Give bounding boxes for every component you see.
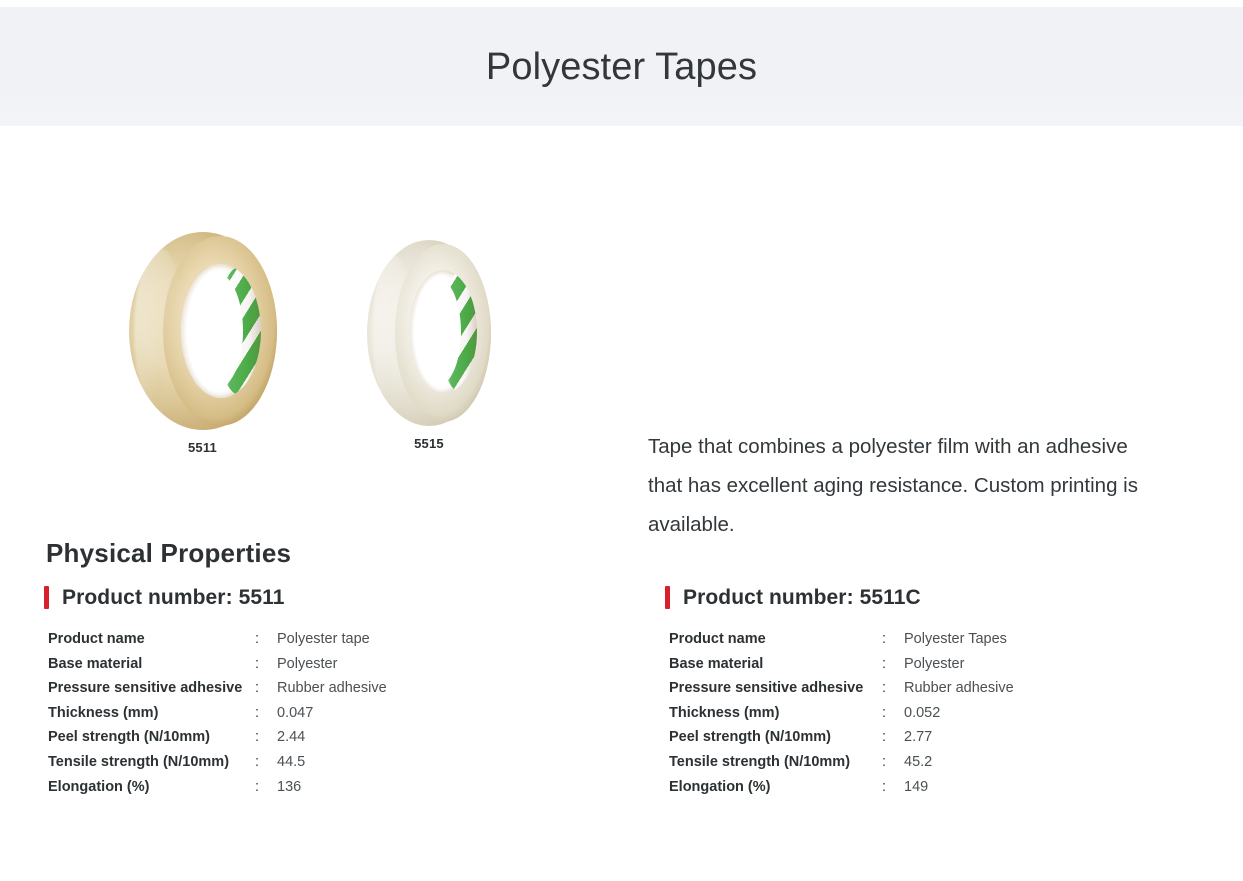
spec-value: 44.5 bbox=[277, 750, 387, 775]
tape-core-hole bbox=[414, 278, 461, 386]
accent-bar-icon bbox=[44, 586, 49, 609]
spec-separator: : bbox=[882, 750, 904, 775]
table-row: Pressure sensitive adhesive : Rubber adh… bbox=[669, 676, 1014, 701]
tape-gloss-highlight bbox=[134, 248, 184, 414]
spec-value: Polyester Tapes bbox=[904, 627, 1014, 652]
spec-separator: : bbox=[882, 676, 904, 701]
spec-label: Peel strength (N/10mm) bbox=[669, 725, 882, 750]
spec-label: Product name bbox=[48, 627, 255, 652]
product-figure-5511: 5511 bbox=[120, 232, 285, 455]
table-row: Thickness (mm) : 0.047 bbox=[48, 701, 387, 726]
table-row: Pressure sensitive adhesive : Rubber adh… bbox=[48, 676, 387, 701]
spec-separator: : bbox=[882, 652, 904, 677]
tape-core bbox=[409, 270, 477, 394]
spec-value: 2.77 bbox=[904, 725, 1014, 750]
page-header: Polyester Tapes bbox=[0, 7, 1243, 126]
spec-value: 0.052 bbox=[904, 701, 1014, 726]
spec-column-5511: Product number: 5511 Product name : Poly… bbox=[44, 586, 604, 799]
spec-label: Product name bbox=[669, 627, 882, 652]
table-row: Elongation (%) : 136 bbox=[48, 775, 387, 800]
table-row: Product name : Polyester Tapes bbox=[669, 627, 1014, 652]
accent-bar-icon bbox=[665, 586, 670, 609]
spec-value: Polyester bbox=[277, 652, 387, 677]
spec-separator: : bbox=[882, 701, 904, 726]
spec-label: Peel strength (N/10mm) bbox=[48, 725, 255, 750]
spec-separator: : bbox=[882, 627, 904, 652]
spec-value: Rubber adhesive bbox=[277, 676, 387, 701]
table-row: Tensile strength (N/10mm) : 45.2 bbox=[669, 750, 1014, 775]
spec-label: Thickness (mm) bbox=[669, 701, 882, 726]
spec-separator: : bbox=[255, 652, 277, 677]
section-heading-physical-properties: Physical Properties bbox=[46, 538, 291, 569]
spec-value: 0.047 bbox=[277, 701, 387, 726]
spec-separator: : bbox=[882, 725, 904, 750]
product-description: Tape that combines a polyester film with… bbox=[648, 427, 1158, 544]
table-row: Thickness (mm) : 0.052 bbox=[669, 701, 1014, 726]
product-caption: 5515 bbox=[358, 436, 500, 451]
spec-column-5511c: Product number: 5511C Product name : Pol… bbox=[665, 586, 1225, 799]
table-row: Peel strength (N/10mm) : 2.77 bbox=[669, 725, 1014, 750]
table-row: Peel strength (N/10mm) : 2.44 bbox=[48, 725, 387, 750]
spec-title: Product number: 5511C bbox=[665, 586, 1225, 609]
spec-label: Base material bbox=[669, 652, 882, 677]
tape-gloss-highlight bbox=[372, 255, 414, 411]
spec-label: Tensile strength (N/10mm) bbox=[48, 750, 255, 775]
spec-separator: : bbox=[255, 750, 277, 775]
spec-label: Pressure sensitive adhesive bbox=[48, 676, 255, 701]
table-row: Elongation (%) : 149 bbox=[669, 775, 1014, 800]
spec-value: 136 bbox=[277, 775, 387, 800]
spec-title-text: Product number: 5511 bbox=[62, 587, 285, 608]
table-row: Tensile strength (N/10mm) : 44.5 bbox=[48, 750, 387, 775]
spec-separator: : bbox=[255, 676, 277, 701]
spec-value: 149 bbox=[904, 775, 1014, 800]
spec-label: Thickness (mm) bbox=[48, 701, 255, 726]
spec-separator: : bbox=[255, 775, 277, 800]
tape-core bbox=[181, 264, 261, 398]
spec-value: 2.44 bbox=[277, 725, 387, 750]
spec-label: Pressure sensitive adhesive bbox=[669, 676, 882, 701]
spec-title-text: Product number: 5511C bbox=[683, 587, 921, 608]
table-row: Base material : Polyester bbox=[48, 652, 387, 677]
spec-value: Polyester tape bbox=[277, 627, 387, 652]
spec-value: Polyester bbox=[904, 652, 1014, 677]
spec-label: Elongation (%) bbox=[48, 775, 255, 800]
product-figure-5515: 5515 bbox=[358, 240, 500, 451]
table-row: Product name : Polyester tape bbox=[48, 627, 387, 652]
spec-separator: : bbox=[255, 701, 277, 726]
spec-value: Rubber adhesive bbox=[904, 676, 1014, 701]
spec-table: Product name : Polyester tape Base mater… bbox=[48, 627, 387, 799]
tape-core-hole bbox=[187, 272, 243, 390]
spec-table: Product name : Polyester Tapes Base mate… bbox=[669, 627, 1014, 799]
product-showcase: 5511 5515 Tape that combines a polyester… bbox=[0, 126, 1243, 506]
spec-label: Base material bbox=[48, 652, 255, 677]
spec-label: Elongation (%) bbox=[669, 775, 882, 800]
spec-separator: : bbox=[255, 627, 277, 652]
product-caption: 5511 bbox=[120, 440, 285, 455]
page-title: Polyester Tapes bbox=[486, 48, 757, 86]
spec-title: Product number: 5511 bbox=[44, 586, 604, 609]
tape-roll-icon bbox=[129, 232, 277, 430]
spec-value: 45.2 bbox=[904, 750, 1014, 775]
spec-separator: : bbox=[882, 775, 904, 800]
spec-label: Tensile strength (N/10mm) bbox=[669, 750, 882, 775]
tape-roll-icon bbox=[367, 240, 491, 426]
spec-separator: : bbox=[255, 725, 277, 750]
table-row: Base material : Polyester bbox=[669, 652, 1014, 677]
